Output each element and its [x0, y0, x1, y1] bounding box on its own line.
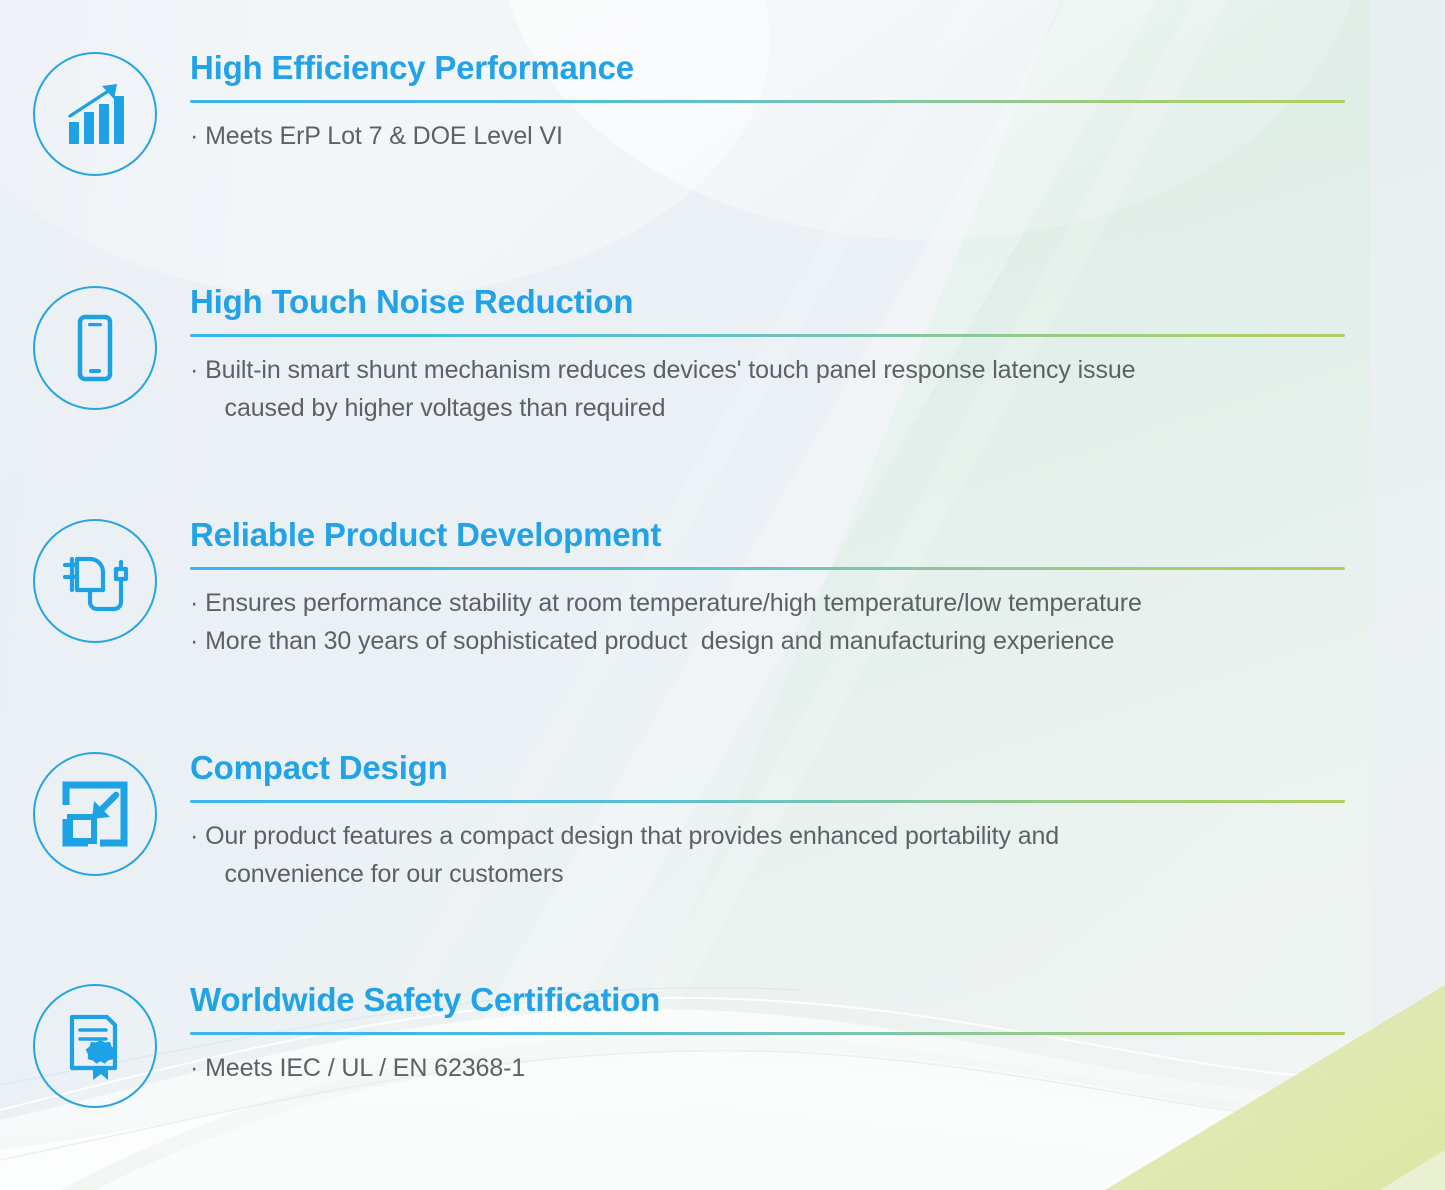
feature-item-reliable-product-development: Reliable Product Development · Ensures p… [0, 515, 1445, 660]
feature-bullets: · Meets ErP Lot 7 & DOE Level VI [190, 117, 1365, 155]
feature-body: High Efficiency Performance · Meets ErP … [190, 48, 1445, 155]
bullet-text: · Meets IEC / UL / EN 62368-1 [190, 1049, 1365, 1087]
feature-body: Reliable Product Development · Ensures p… [190, 515, 1445, 660]
feature-title: High Efficiency Performance [190, 50, 1365, 87]
title-divider [190, 100, 1345, 103]
feature-bullets: · Our product features a compact design … [190, 817, 1365, 893]
feature-bullets: · Built-in smart shunt mechanism reduces… [190, 351, 1365, 427]
feature-bullets: · Meets IEC / UL / EN 62368-1 [190, 1049, 1365, 1087]
icon-container [0, 980, 190, 1108]
icon-container [0, 48, 190, 176]
icon-container [0, 515, 190, 643]
bar-chart-growth-glyph [59, 78, 131, 150]
compact-resize-icon [33, 752, 157, 876]
title-divider [190, 567, 1345, 570]
feature-body: Worldwide Safety Certification · Meets I… [190, 980, 1445, 1087]
certificate-seal-icon [33, 984, 157, 1108]
bullet-text: · Meets ErP Lot 7 & DOE Level VI [190, 117, 1365, 155]
title-divider [190, 800, 1345, 803]
feature-title: Worldwide Safety Certification [190, 982, 1365, 1019]
feature-item-compact-design: Compact Design · Our product features a … [0, 748, 1445, 893]
icon-container [0, 748, 190, 876]
bullet-text: · Built-in smart shunt mechanism reduces… [190, 351, 1365, 427]
feature-title: High Touch Noise Reduction [190, 284, 1365, 321]
icon-container [0, 282, 190, 410]
feature-item-worldwide-safety-certification: Worldwide Safety Certification · Meets I… [0, 980, 1445, 1108]
feature-bullets: · Ensures performance stability at room … [190, 584, 1365, 660]
feature-item-high-efficiency-performance: High Efficiency Performance · Meets ErP … [0, 48, 1445, 176]
bullet-text: · Our product features a compact design … [190, 817, 1365, 893]
bullet-text: · Ensures performance stability at room … [190, 584, 1365, 622]
feature-body: High Touch Noise Reduction · Built-in sm… [190, 282, 1445, 427]
smartphone-icon [33, 286, 157, 410]
smartphone-glyph [59, 312, 131, 384]
compact-resize-glyph [60, 779, 130, 849]
certificate-seal-glyph [59, 1010, 131, 1082]
feature-title: Compact Design [190, 750, 1365, 787]
feature-item-high-touch-noise-reduction: High Touch Noise Reduction · Built-in sm… [0, 282, 1445, 427]
power-adapter-icon [33, 519, 157, 643]
feature-title: Reliable Product Development [190, 517, 1365, 554]
bar-chart-growth-icon [33, 52, 157, 176]
power-adapter-glyph [56, 545, 134, 617]
title-divider [190, 334, 1345, 337]
title-divider [190, 1032, 1345, 1035]
bullet-text: · More than 30 years of sophisticated pr… [190, 622, 1365, 660]
feature-list: High Efficiency Performance · Meets ErP … [0, 0, 1445, 1190]
feature-body: Compact Design · Our product features a … [190, 748, 1445, 893]
